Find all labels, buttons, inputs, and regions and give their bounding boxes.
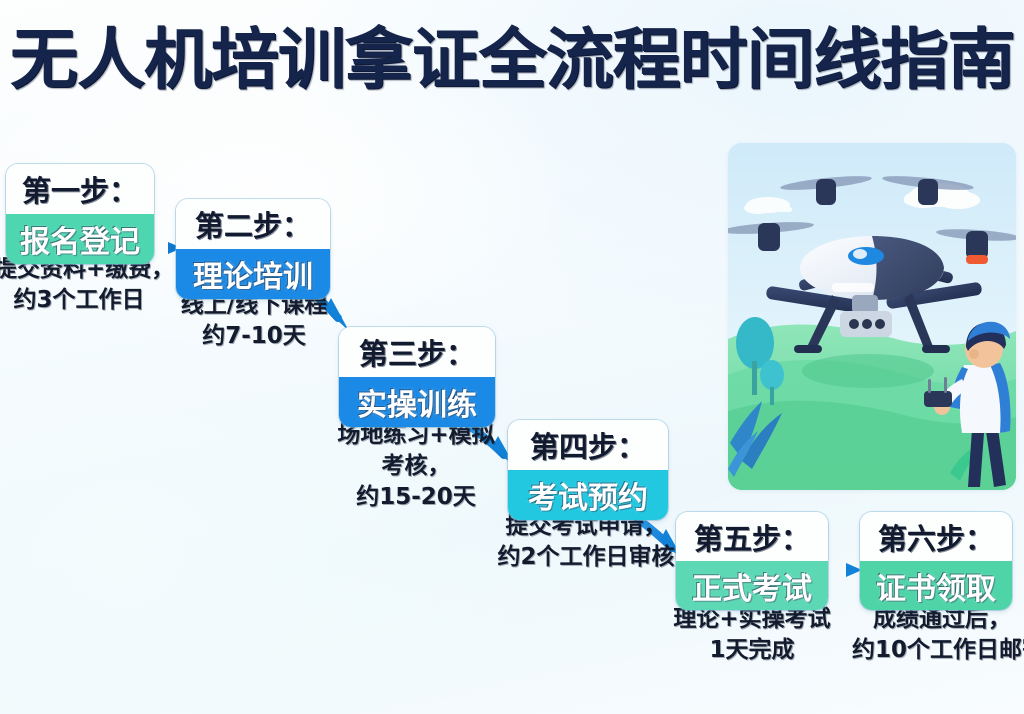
step-3-number-label: 第三步： (359, 331, 475, 373)
step-3-caption-line-3: 约15-20天 (330, 482, 502, 513)
step-3-caption: 场地练习+模拟 考核， 约15-20天 (330, 420, 502, 513)
step-4-caption: 提交考试申请， 约2个工作日审核 (488, 511, 684, 573)
step-card-1[interactable]: 第一步： 报名登记 (6, 164, 154, 264)
step-2-caption: 线上/线下课程 约7-10天 (166, 290, 342, 352)
infographic-poster: 无人机培训拿证全流程时间线指南 (0, 0, 1024, 714)
step-1-name-banner: 报名登记 (6, 214, 154, 264)
step-4-number-label: 第四步： (530, 424, 646, 466)
drone-pilot-illustration (728, 143, 1016, 490)
step-4-name-label: 考试预约 (528, 473, 648, 517)
page-title: 无人机培训拿证全流程时间线指南 (10, 20, 999, 100)
step-4-caption-line-2: 约2个工作日审核 (488, 542, 684, 573)
step-4-name-banner: 考试预约 (508, 470, 668, 520)
step-5-number-banner: 第五步： (676, 512, 828, 561)
step-5-caption-line-2: 1天完成 (666, 635, 838, 666)
step-5-name-banner: 正式考试 (676, 561, 828, 610)
step-6-name-label: 证书领取 (876, 564, 996, 608)
step-1-number-label: 第一步： (22, 168, 138, 210)
step-2-number-label: 第二步： (195, 203, 311, 245)
step-card-6[interactable]: 第六步： 证书领取 (860, 512, 1012, 610)
step-3-caption-line-2: 考核， (330, 451, 502, 482)
step-2-name-banner: 理论培训 (176, 249, 330, 299)
step-6-number-banner: 第六步： (860, 512, 1012, 561)
step-1-caption-line-2: 约3个工作日 (0, 285, 164, 316)
step-3-number-banner: 第三步： (339, 327, 495, 377)
step-2-name-label: 理论培训 (193, 252, 313, 296)
step-4-number-banner: 第四步： (508, 420, 668, 470)
step-6-caption-line-2: 约10个工作日邮寄 (852, 635, 1024, 666)
step-1-number-banner: 第一步： (6, 164, 154, 214)
step-6-caption: 成绩通过后， 约10个工作日邮寄 (852, 604, 1024, 666)
step-6-name-banner: 证书领取 (860, 561, 1012, 610)
step-2-number-banner: 第二步： (176, 199, 330, 249)
step-3-name-banner: 实操训练 (339, 377, 495, 427)
step-5-caption: 理论+实操考试 1天完成 (666, 604, 838, 666)
step-card-3[interactable]: 第三步： 实操训练 (339, 327, 495, 427)
step-5-name-label: 正式考试 (692, 564, 812, 608)
step-6-number-label: 第六步： (878, 516, 994, 558)
step-2-caption-line-2: 约7-10天 (166, 321, 342, 352)
step-1-name-label: 报名登记 (20, 217, 140, 261)
connector-step5-step6-icon (828, 563, 862, 577)
step-card-4[interactable]: 第四步： 考试预约 (508, 420, 668, 520)
step-card-5[interactable]: 第五步： 正式考试 (676, 512, 828, 610)
step-card-2[interactable]: 第二步： 理论培训 (176, 199, 330, 299)
step-3-name-label: 实操训练 (357, 380, 477, 424)
step-5-number-label: 第五步： (694, 516, 810, 558)
